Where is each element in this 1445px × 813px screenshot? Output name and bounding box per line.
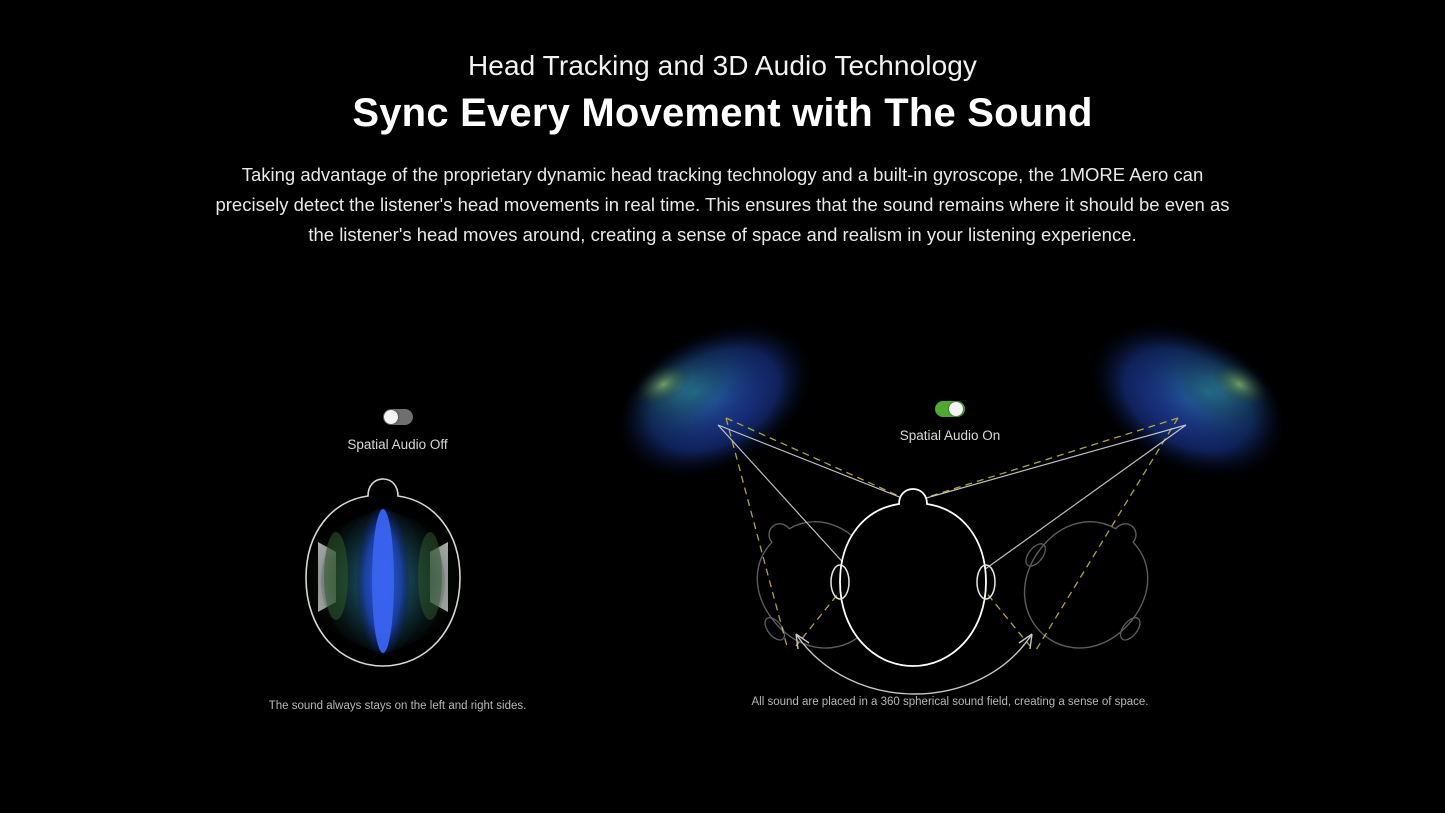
center-head xyxy=(831,489,995,666)
speaker-icons xyxy=(318,542,448,612)
head-outline xyxy=(306,479,460,666)
ear-left-icon xyxy=(831,565,849,599)
sightlines xyxy=(718,425,1186,590)
toggle-knob xyxy=(384,410,398,424)
spatial-projection-lines xyxy=(726,418,1178,650)
spatial-audio-on-control[interactable]: Spatial Audio On xyxy=(600,400,1300,443)
page-root: Head Tracking and 3D Audio Technology Sy… xyxy=(0,0,1445,813)
spatial-audio-off-toggle[interactable] xyxy=(383,409,413,425)
spatial-audio-on-label: Spatial Audio On xyxy=(600,428,1300,443)
spatial-audio-illustration xyxy=(600,290,1300,760)
stereo-wave-field xyxy=(305,507,461,655)
intro-paragraph: Taking advantage of the proprietary dyna… xyxy=(208,160,1238,250)
stereo-head-illustration xyxy=(140,290,655,760)
eyebrow-text: Head Tracking and 3D Audio Technology xyxy=(0,48,1445,84)
spatial-audio-off-control[interactable]: Spatial Audio Off xyxy=(140,408,655,452)
rotation-arrow-icon xyxy=(796,634,1032,694)
spatial-audio-off-caption: The sound always stays on the left and r… xyxy=(233,698,563,714)
page-header: Head Tracking and 3D Audio Technology Sy… xyxy=(0,48,1445,138)
ghost-head-right xyxy=(994,486,1186,679)
spatial-audio-on-caption: All sound are placed in a 360 spherical … xyxy=(750,694,1150,710)
ear-right-icon xyxy=(977,565,995,599)
spatial-audio-on-toggle[interactable] xyxy=(935,401,965,417)
spatial-audio-off-label: Spatial Audio Off xyxy=(140,437,655,452)
panel-spatial-audio-on: Spatial Audio On All sound are placed in… xyxy=(600,290,1300,760)
ghost-head-left xyxy=(719,486,911,679)
toggle-knob xyxy=(949,402,963,416)
page-title: Sync Every Movement with The Sound xyxy=(0,88,1445,138)
comparison-panels: Spatial Audio Off The sound always stays… xyxy=(0,290,1445,760)
panel-spatial-audio-off: Spatial Audio Off The sound always stays… xyxy=(140,290,655,760)
